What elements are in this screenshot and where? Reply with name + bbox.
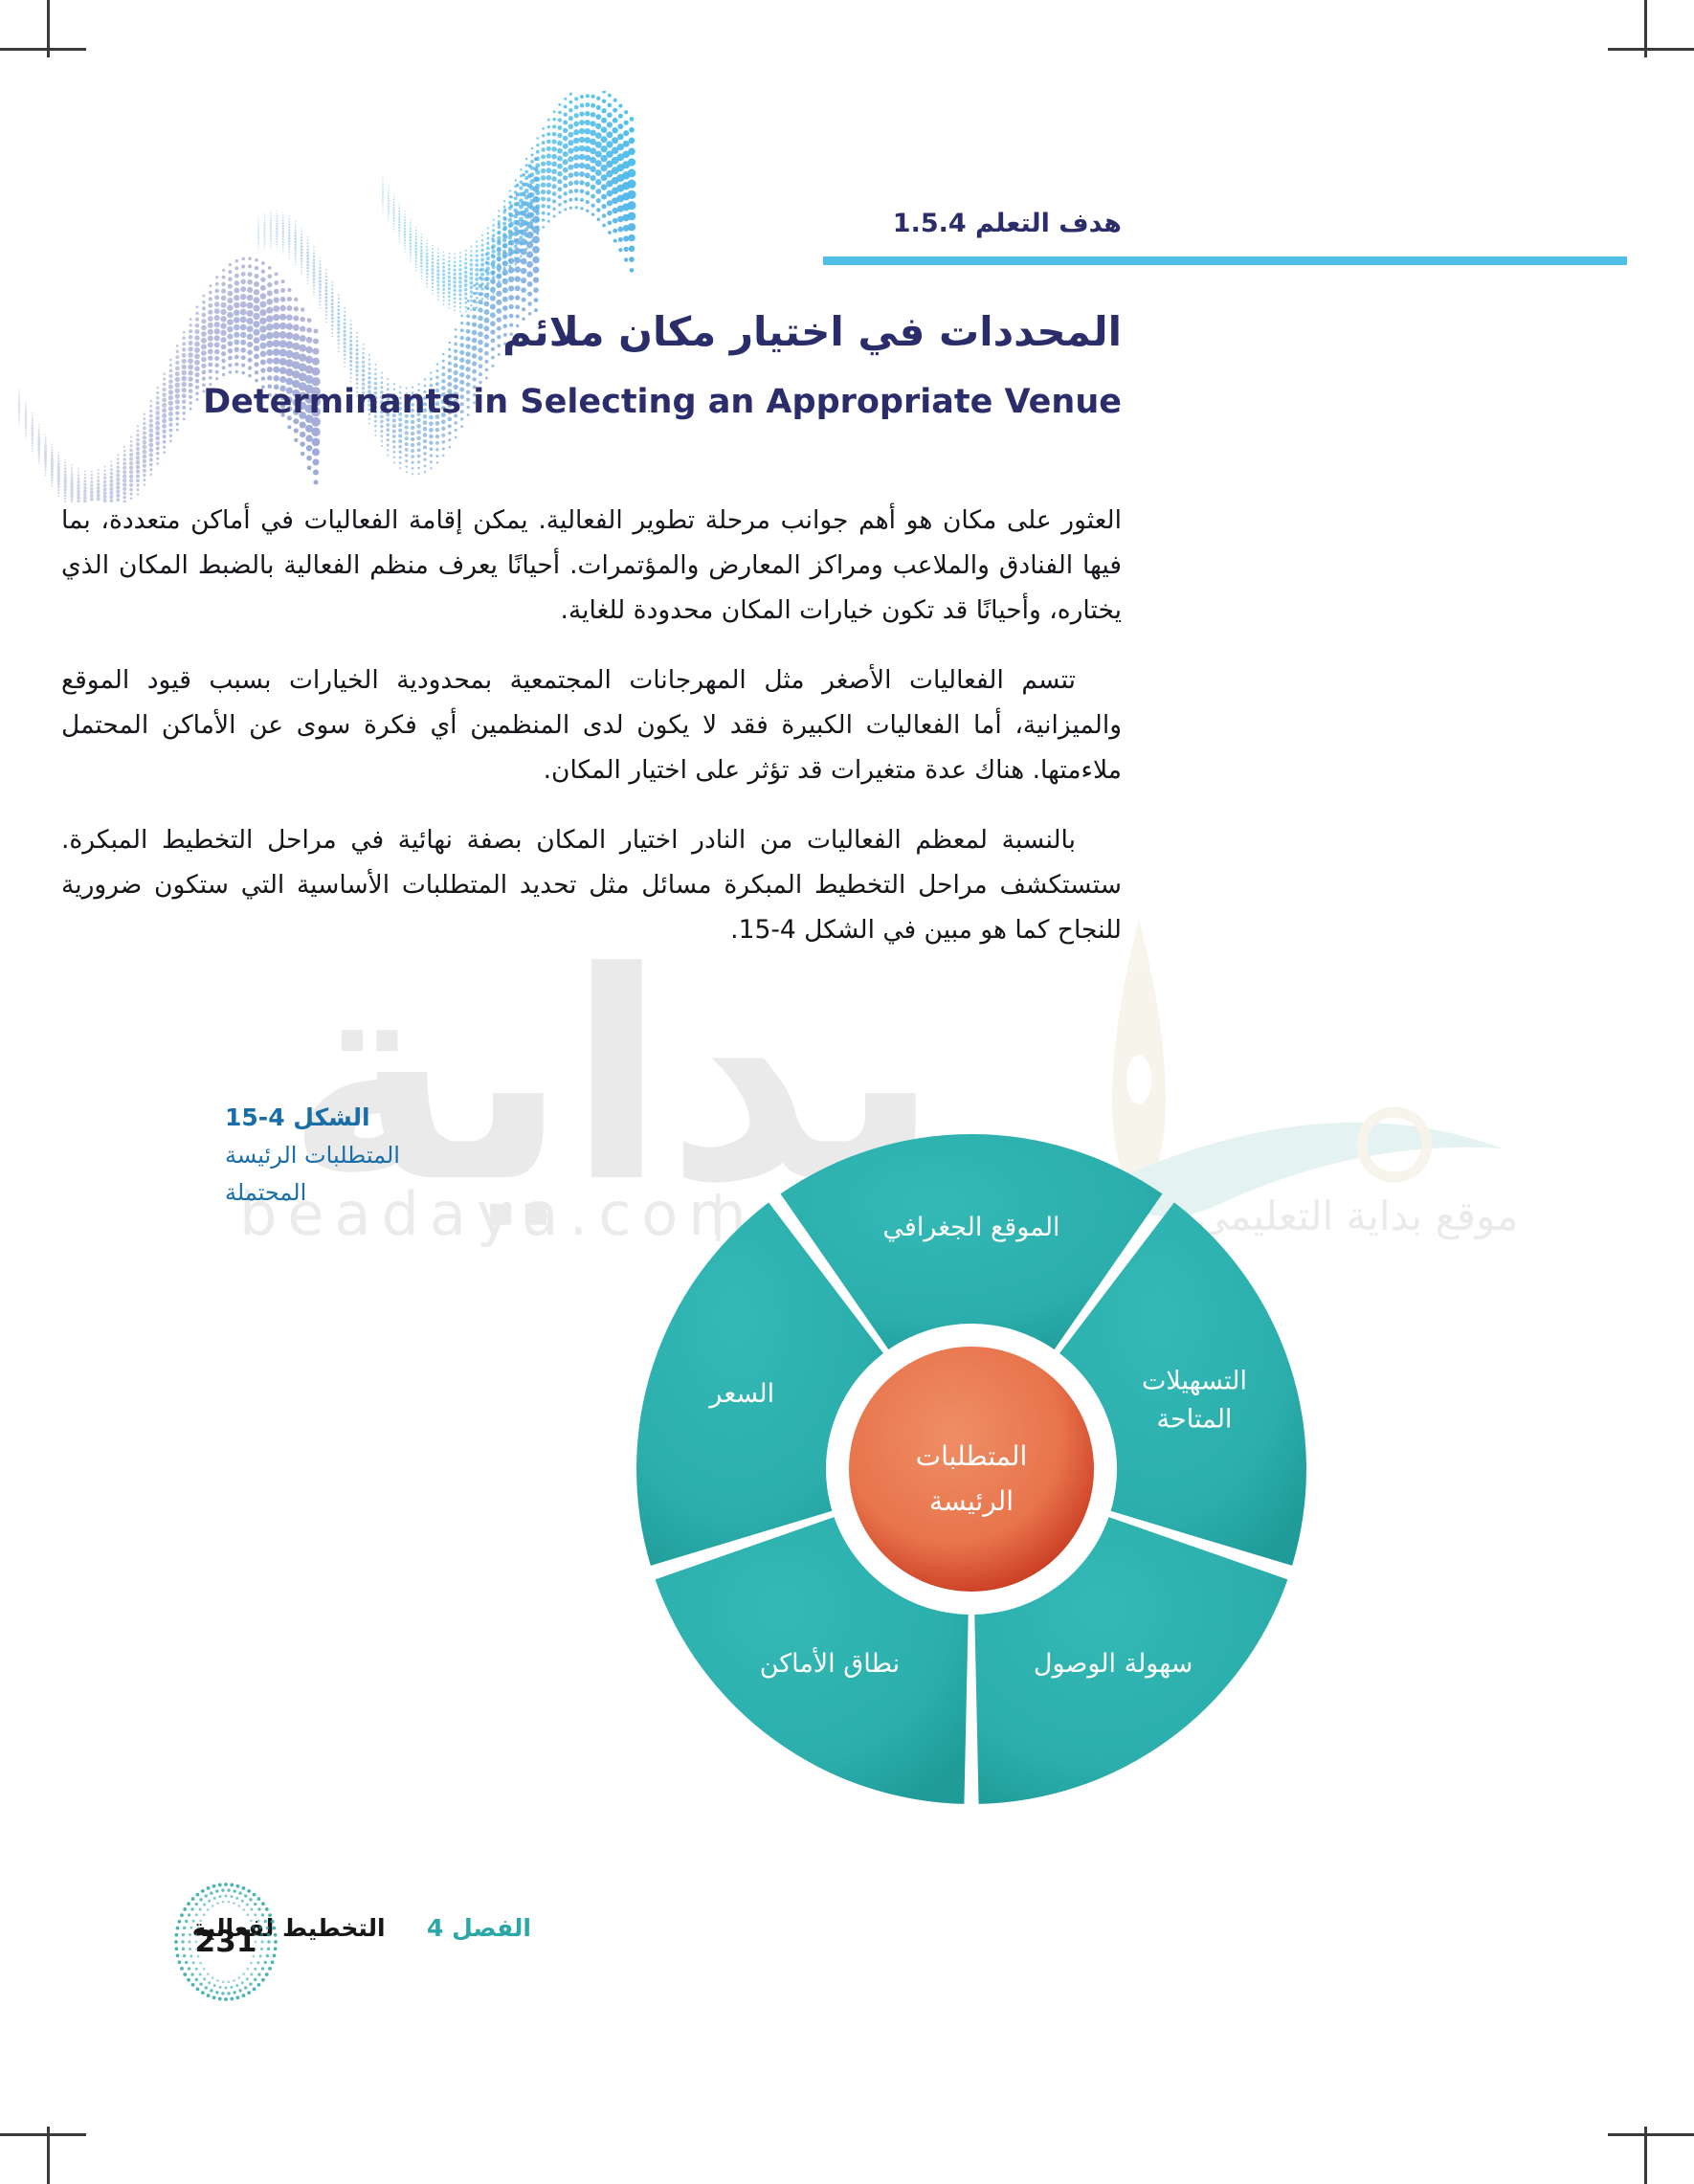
wheel-segment-label: السعر xyxy=(707,1379,774,1409)
page-title-arabic: المحددات في اختيار مكان ملائم xyxy=(502,308,1122,355)
figure-caption: الشكل 4-15 المتطلبات الرئيسة المحتملة xyxy=(225,1099,541,1212)
paragraph-3: بالنسبة لمعظم الفعاليات من النادر اختيار… xyxy=(61,817,1122,952)
crop-mark-bottom-right-horizontal xyxy=(1608,2133,1694,2136)
decorative-dotted-wave xyxy=(0,91,651,502)
wheel-segment-label: نطاق الأماكن xyxy=(760,1646,900,1679)
crop-mark-bottom-left-horizontal xyxy=(0,2133,86,2136)
page-number-badge: 231 xyxy=(165,1881,287,2003)
figure-caption-line-2: المحتملة xyxy=(225,1174,541,1212)
paragraph-2: تتسم الفعاليات الأصغر مثل المهرجانات الم… xyxy=(61,657,1122,792)
learning-objective-label: هدف التعلم 1.5.4 xyxy=(893,209,1122,238)
paragraph-1: العثور على مكان هو أهم جوانب مرحلة تطوير… xyxy=(61,498,1122,633)
figure-number: الشكل 4-15 xyxy=(225,1099,541,1137)
page-title-english: Determinants in Selecting an Appropriate… xyxy=(203,383,1122,421)
footer-chapter-label: الفصل 4 xyxy=(427,1914,531,1942)
wheel-segment-label: سهولة الوصول xyxy=(1034,1649,1192,1679)
crop-mark-top-left-horizontal xyxy=(0,48,86,51)
header-rule xyxy=(823,256,1627,265)
crop-mark-top-right-horizontal xyxy=(1608,48,1694,51)
body-text-column: العثور على مكان هو أهم جوانب مرحلة تطوير… xyxy=(61,498,1122,977)
figure-caption-line-1: المتطلبات الرئيسة xyxy=(225,1137,541,1174)
wheel-segment-label: الموقع الجغرافي xyxy=(882,1213,1059,1242)
requirements-wheel-diagram: الموقع الجغرافيالتسهيلاتالمتاحةسهولة الو… xyxy=(565,1125,1378,1881)
page-number: 231 xyxy=(165,1881,287,2003)
